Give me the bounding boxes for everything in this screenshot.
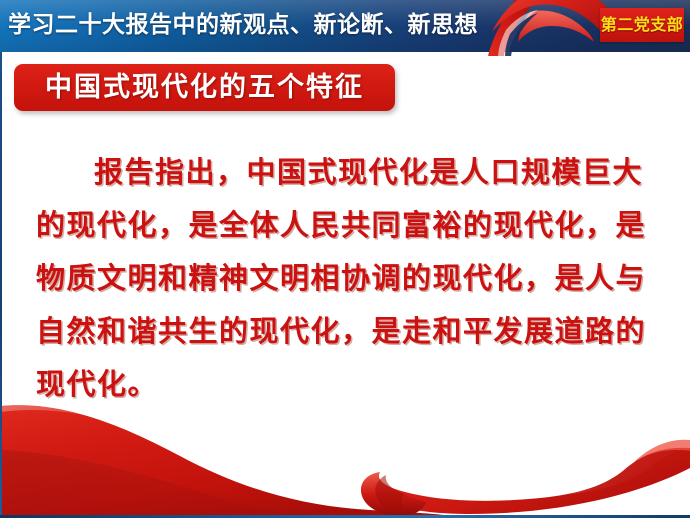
page-title: 中国式现代化的五个特征 — [14, 64, 395, 111]
body-line: 报告指出，中国式现代化是人口规模巨大 — [36, 146, 658, 199]
body-line: 自然和谐共生的现代化，是走和平发展道路的 — [36, 305, 658, 358]
slide-canvas: 学习二十大报告中的新观点、新论断、新思想 — [0, 0, 690, 518]
left-edge-rule — [0, 52, 2, 518]
red-swoosh-emblem-icon — [476, 0, 606, 56]
page-title-banner: 中国式现代化的五个特征 — [14, 64, 395, 111]
body-line: 现代化。 — [36, 358, 658, 411]
body-line: 的现代化，是全体人民共同富裕的现代化，是 — [36, 199, 658, 252]
body-line: 物质文明和精神文明相协调的现代化，是人与 — [36, 252, 658, 305]
header-title: 学习二十大报告中的新观点、新论断、新思想 — [8, 9, 478, 42]
status-badge: 第二党支部 — [600, 8, 684, 42]
body-paragraph: 报告指出，中国式现代化是人口规模巨大 的现代化，是全体人民共同富裕的现代化，是 … — [36, 146, 658, 411]
badge-label: 第二党支部 — [600, 8, 684, 42]
